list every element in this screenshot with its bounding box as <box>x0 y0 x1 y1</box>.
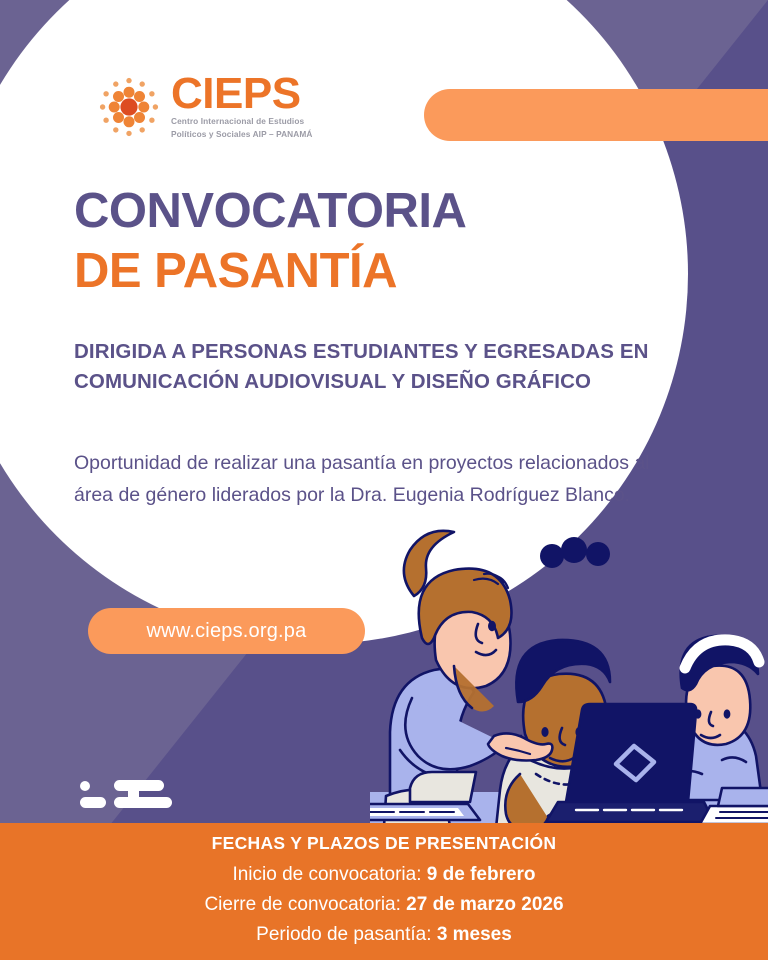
footer-row-close: Cierre de convocatoria: 27 de marzo 2026 <box>204 891 563 920</box>
logo-wordmark: CIEPS <box>171 74 312 114</box>
dots-and-bars-decoration-icon <box>80 778 172 812</box>
website-url-label: www.cieps.org.pa <box>147 620 307 643</box>
headline-line-2: DE PASANTÍA <box>74 242 694 302</box>
poster-canvas: CIEPS Centro Internacional de Estudios P… <box>0 0 768 960</box>
footer-dates-panel: FECHAS Y PLAZOS DE PRESENTACIÓN Inicio d… <box>0 823 768 960</box>
sunburst-dots-icon <box>96 74 162 140</box>
logo-subtitle-line-2: Políticos y Sociales AIP – PANAMÁ <box>171 129 312 140</box>
footer-row-period: Periodo de pasantía: 3 meses <box>256 921 512 950</box>
headline-line-1: CONVOCATORIA <box>74 182 694 242</box>
logo-text-block: CIEPS Centro Internacional de Estudios P… <box>171 74 312 140</box>
logo-subtitle-line-1: Centro Internacional de Estudios <box>171 116 312 127</box>
website-url-button[interactable]: www.cieps.org.pa <box>88 608 365 654</box>
footer-title: FECHAS Y PLAZOS DE PRESENTACIÓN <box>212 833 557 854</box>
footer-row-start-label: Inicio de convocatoria: <box>232 864 426 885</box>
footer-row-period-value: 3 meses <box>437 924 512 945</box>
footer-row-start: Inicio de convocatoria: 9 de febrero <box>232 861 535 890</box>
headline-block: CONVOCATORIA DE PASANTÍA <box>74 182 694 302</box>
footer-row-start-value: 9 de febrero <box>427 864 536 885</box>
footer-row-close-label: Cierre de convocatoria: <box>204 894 406 915</box>
three-people-with-laptops-illustration <box>370 520 768 823</box>
subheading-text: DIRIGIDA A PERSONAS ESTUDIANTES Y EGRESA… <box>74 337 674 397</box>
footer-row-period-label: Periodo de pasantía: <box>256 924 437 945</box>
footer-row-close-value: 27 de marzo 2026 <box>406 894 563 915</box>
body-paragraph: Oportunidad de realizar una pasantía en … <box>74 448 654 511</box>
cieps-logo: CIEPS Centro Internacional de Estudios P… <box>96 74 312 140</box>
top-orange-bar <box>424 89 768 141</box>
